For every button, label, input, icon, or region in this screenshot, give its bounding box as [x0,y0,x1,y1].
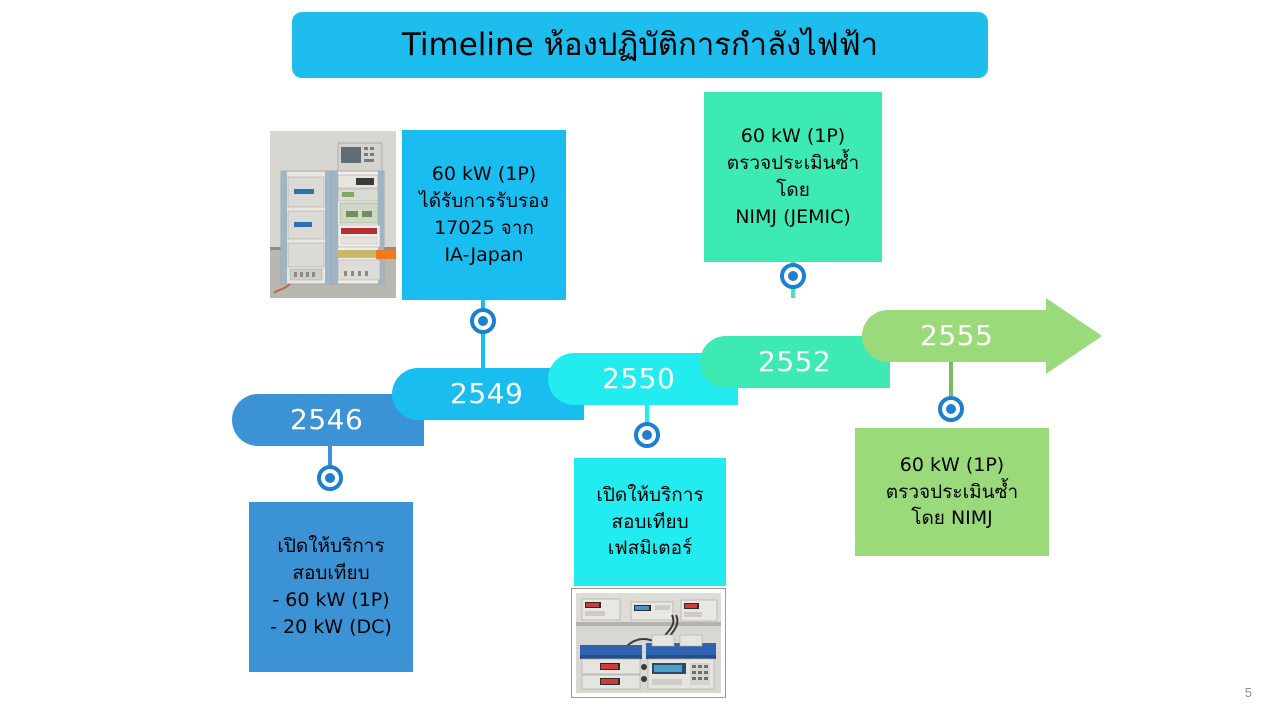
connector-dot-core-icon [946,404,956,414]
connector-dot-core-icon [478,316,488,326]
page-title: Timeline ห้องปฏิบัติการกำลังไฟฟ้า [402,29,878,62]
callout-box-2555[interactable]: 60 kW (1P) ตรวจประเมินซ้ำ โดย NIMJ [855,428,1049,556]
callout-box-2550[interactable]: เปิดให้บริการ สอบเทียบ เฟสมิเตอร์ [574,458,726,586]
callout-line: โดย NIMJ [911,505,993,532]
callout-box-2552[interactable]: 60 kW (1P) ตรวจประเมินซ้ำ โดย NIMJ (JEMI… [704,92,882,262]
callout-line: โดย [776,177,810,204]
timeline-year-2550: 2550 [602,362,675,395]
equipment-rack-photo [270,131,396,298]
connector-dot-core-icon [788,271,798,281]
connector-dot-2555[interactable] [938,396,964,422]
slide-title-bar: Timeline ห้องปฏิบัติการกำลังไฟฟ้า [292,12,988,78]
connector-dot-core-icon [642,430,652,440]
callout-line: สอบเทียบ [611,509,688,536]
lab-bench-illustration [576,593,721,693]
connector-dot-core-icon [325,473,335,483]
callout-line: 60 kW (1P) [432,161,536,188]
callout-line: เปิดให้บริการ [277,533,384,560]
connector-dot-2546[interactable] [317,465,343,491]
callout-line: - 60 kW (1P) [272,587,389,614]
connector-dot-2552[interactable] [780,263,806,289]
timeline-segment-2555[interactable]: 2555 [862,310,1052,362]
page-number: 5 [1245,685,1252,700]
callout-box-2549[interactable]: 60 kW (1P) ได้รับการรับรอง 17025 จาก IA-… [402,130,566,300]
connector-dot-2549[interactable] [470,308,496,334]
callout-line: 17025 จาก [434,215,534,242]
callout-line: - 20 kW (DC) [270,614,392,641]
timeline-year-2549: 2549 [450,377,523,410]
slide-canvas: Timeline ห้องปฏิบัติการกำลังไฟฟ้า 2546 2… [0,0,1280,720]
timeline-year-2546: 2546 [290,403,363,436]
callout-line: NIMJ (JEMIC) [735,204,851,231]
callout-line: IA-Japan [444,242,523,269]
callout-line: ตรวจประเมินซ้ำ [727,150,859,177]
timeline-year-2552: 2552 [758,345,831,378]
callout-box-2546[interactable]: เปิดให้บริการ สอบเทียบ - 60 kW (1P) - 20… [249,502,413,672]
timeline-segment-2552[interactable]: 2552 [700,336,890,388]
callout-line: 60 kW (1P) [741,123,845,150]
callout-line: 60 kW (1P) [900,452,1004,479]
callout-line: ตรวจประเมินซ้ำ [886,479,1018,506]
callout-line: เปิดให้บริการ [596,482,703,509]
equipment-rack-illustration [270,131,396,298]
lab-bench-photo [572,589,725,697]
callout-line: ได้รับการรับรอง [419,188,549,215]
callout-line: เฟสมิเตอร์ [608,535,693,562]
callout-line: สอบเทียบ [292,560,369,587]
timeline-arrowhead-icon [1046,298,1102,374]
timeline-year-2555: 2555 [920,319,993,352]
connector-dot-2550[interactable] [634,422,660,448]
